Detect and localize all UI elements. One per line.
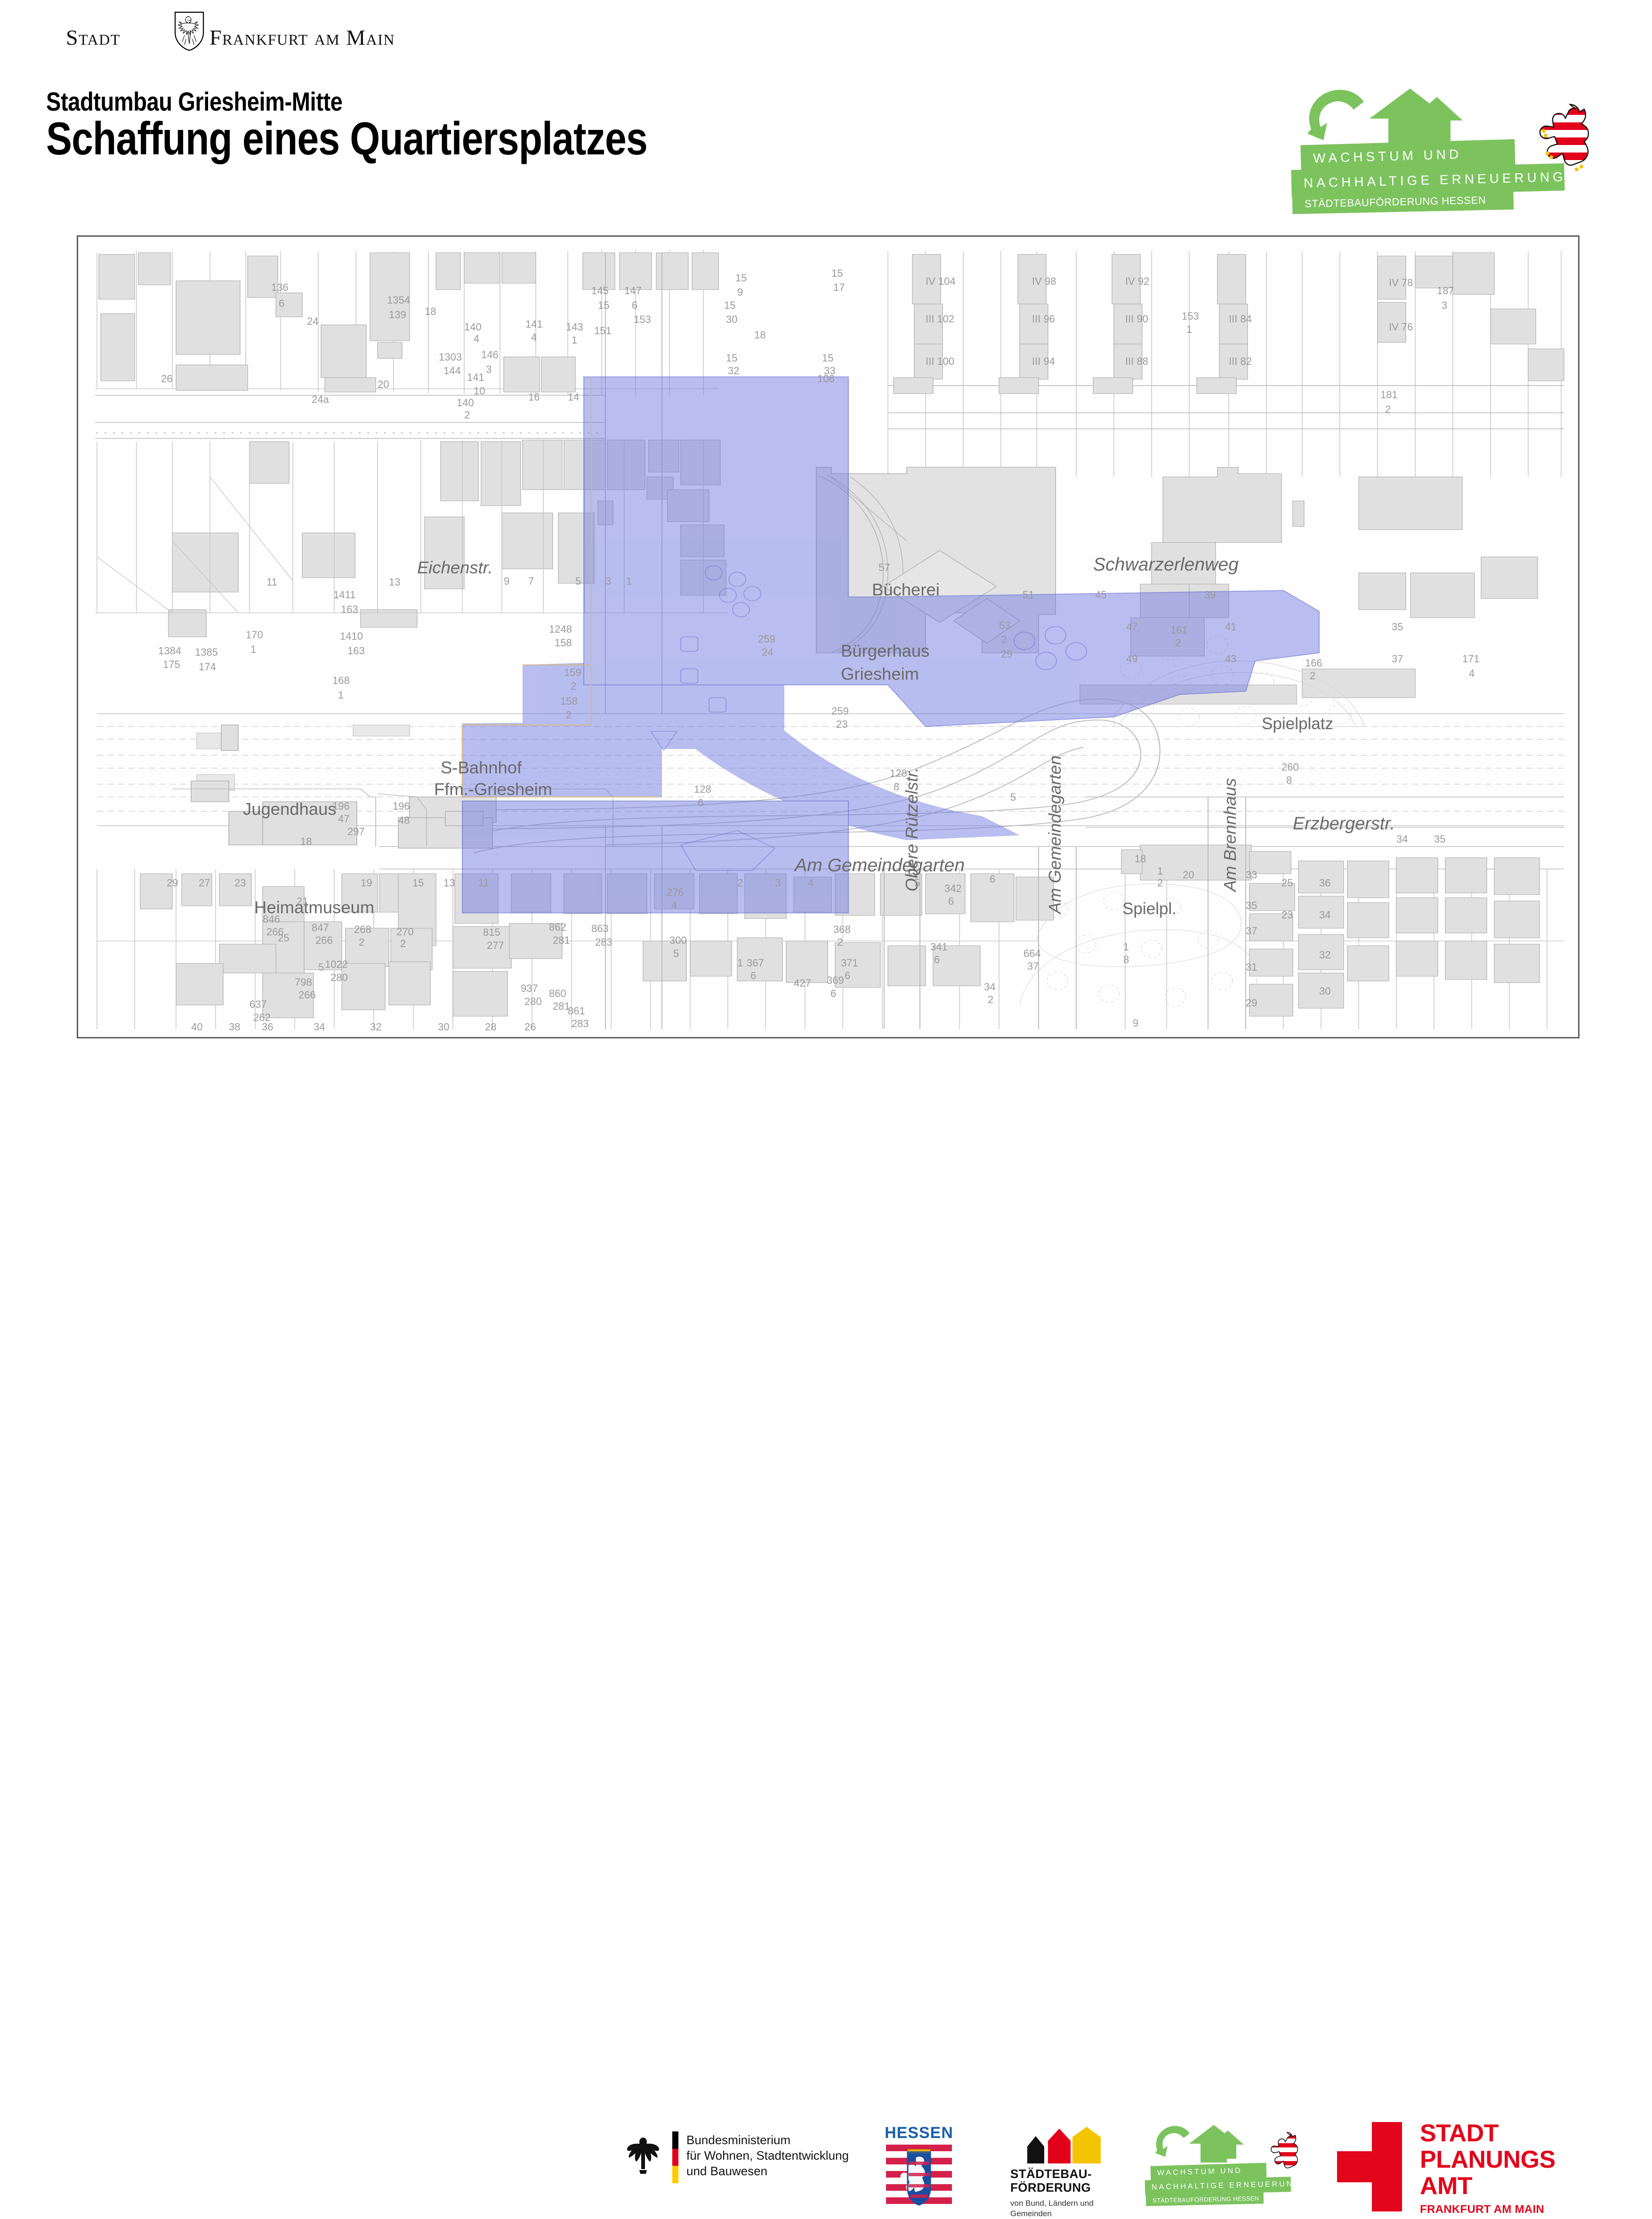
map-label: Bücherei — [872, 580, 940, 600]
parcel-number: 266 — [266, 926, 284, 938]
parcel-number: 5 — [1010, 791, 1016, 804]
parcel-number: 21 — [297, 895, 308, 908]
parcel-number: IV 92 — [1125, 275, 1149, 288]
parcel-number: 2 — [566, 709, 572, 721]
parcel-number: 153 — [634, 314, 651, 326]
parcel-number: 15 — [598, 299, 609, 312]
parcel-number: 6 — [698, 797, 703, 809]
parcel-number: 6 — [934, 954, 940, 966]
parcel-number: 6 — [845, 970, 850, 982]
parcel-number: 25 — [1281, 877, 1293, 889]
parcel-number: 2 — [1001, 634, 1007, 646]
parcel-number: 147 — [624, 285, 642, 297]
map-label: Am Gemeindegarten — [795, 855, 965, 876]
parcel-number: 18 — [754, 329, 766, 341]
parcel-number: 4 — [808, 877, 814, 889]
staedtebau-line2: FÖRDERUNG — [1010, 2180, 1091, 2195]
map-label: Griesheim — [841, 664, 919, 684]
staedtebau-subtitle: von Bund, Ländern und Gemeinden — [1010, 2198, 1094, 2219]
parcel-number: 168 — [332, 675, 350, 687]
parcel-number: 171 — [1462, 653, 1480, 665]
parcel-number: 371 — [841, 957, 858, 969]
parcel-number: 40 — [191, 1021, 202, 1033]
parcel-number: 2 — [571, 680, 576, 692]
parcel-number: 1 — [250, 643, 256, 656]
parcel-number: 15 — [726, 352, 737, 364]
parcel-number: 8 — [1286, 774, 1292, 787]
bmwsb-line3: und Bauwesen — [686, 2164, 767, 2178]
parcel-number: 1 — [572, 334, 577, 346]
parcel-number: 35 — [1246, 900, 1257, 912]
parcel-number: 33 — [1246, 869, 1257, 881]
cadastral-map[interactable]: Eichenstr.SchwarzerlenwegBüchereiBürgerh… — [77, 235, 1579, 1038]
parcel-number: 2 — [1175, 637, 1181, 649]
parcel-number: 1410 — [340, 630, 363, 643]
parcel-number: III 94 — [1032, 355, 1055, 368]
parcel-number: 861 — [568, 1005, 585, 1017]
parcel-number: 34 — [314, 1021, 325, 1033]
parcel-number: 277 — [487, 940, 504, 952]
parcel-number: 29 — [1001, 648, 1012, 660]
parcel-number: IV 98 — [1032, 275, 1056, 288]
parcel-number: 863 — [591, 923, 609, 935]
parcel-number: 847 — [312, 922, 329, 934]
parcel-number: 139 — [389, 309, 406, 321]
parcel-number: 2 — [359, 936, 364, 949]
hessen-lion-icon-small — [1268, 2131, 1302, 2176]
parcel-number: III 96 — [1032, 313, 1055, 325]
stadtplanungsamt-mark-icon — [1337, 2122, 1402, 2211]
parcel-number: 1 — [1157, 865, 1163, 877]
parcel-number: 141 — [467, 371, 484, 384]
parcel-number: 1 — [1186, 323, 1192, 336]
parcel-number: 37 — [1246, 925, 1257, 937]
parcel-number: 4 — [1469, 667, 1475, 680]
hessen-shield-icon — [881, 2145, 957, 2207]
parcel-number: 37 — [1027, 960, 1039, 973]
parcel-number: 158 — [555, 637, 572, 649]
stadtplanungsamt-wordmark: STADT PLANUNGS AMT — [1420, 2120, 1555, 2199]
parcel-number: 11 — [266, 576, 277, 588]
map-label-rotated: Am Gemeindegarten — [1045, 756, 1065, 914]
parcel-number: 6 — [948, 895, 954, 908]
parcel-number: IV 104 — [926, 275, 956, 288]
parcel-number: 6 — [830, 988, 836, 1000]
staedtebau-sub1: von Bund, Ländern und — [1010, 2199, 1094, 2208]
parcel-number: 38 — [229, 1021, 240, 1033]
parcel-number: 8 — [894, 781, 899, 793]
parcel-number: 41 — [1225, 621, 1236, 633]
parcel-number: 1 — [1123, 941, 1129, 953]
staedtebau-sub2: Gemeinden — [1010, 2209, 1052, 2218]
parcel-number: 1 — [338, 689, 344, 701]
staedtebau-line1: STÄDTEBAU- — [1010, 2167, 1092, 2181]
parcel-number: 128 — [890, 767, 907, 780]
parcel-number: 5 — [318, 961, 324, 973]
parcel-number: 15 — [724, 299, 735, 312]
parcel-number: 151 — [594, 325, 612, 337]
parcel-number: 26 — [524, 1021, 536, 1033]
parcel-number: 6 — [990, 873, 995, 885]
parcel-number: 141 — [525, 318, 543, 330]
parcel-number: 1022 — [325, 958, 348, 971]
parcel-number: 2 — [400, 938, 406, 950]
frankfurt-eagle-crest-icon — [173, 11, 205, 51]
map-label: Spielplatz — [1262, 715, 1333, 733]
map-label: Schwarzerlenweg — [1093, 555, 1239, 575]
parcel-number: 259 — [831, 705, 849, 717]
spa-line3: AMT — [1420, 2172, 1472, 2200]
parcel-number: 15 — [822, 352, 833, 364]
parcel-number: 26 — [161, 373, 172, 385]
parcel-number: III 88 — [1125, 355, 1148, 368]
parcel-number: 145 — [591, 285, 609, 297]
parcel-number: 2 — [1385, 403, 1391, 416]
parcel-number: 1 — [626, 575, 632, 587]
parcel-number: 4 — [474, 333, 479, 345]
map-label: Ffm.-Griesheim — [434, 780, 552, 799]
parcel-number: 266 — [315, 934, 333, 947]
parcel-number: 6 — [279, 297, 284, 310]
parcel-number: 51 — [1023, 589, 1034, 601]
parcel-number: 2 — [1157, 877, 1163, 889]
parcel-number: 47 — [338, 813, 349, 825]
parcel-number: 20 — [378, 378, 389, 391]
parcel-number: 24 — [307, 315, 318, 328]
page-title: Schaffung eines Quartiersplatzes — [46, 112, 647, 165]
parcel-number: 15 — [735, 272, 747, 284]
parcel-number: 280 — [524, 996, 542, 1008]
parcel-number: 23 — [836, 718, 847, 731]
parcel-number: 11 — [478, 877, 489, 889]
map-label: S-Bahnhof — [441, 758, 522, 778]
parcel-number: 2 — [737, 877, 743, 889]
parcel-number: 23 — [234, 877, 246, 889]
parcel-number: 7 — [528, 575, 534, 587]
parcel-number: 18 — [425, 306, 436, 318]
parcel-number: 15 — [831, 267, 843, 280]
parcel-number: 196 — [393, 800, 410, 812]
parcel-number: 140 — [464, 321, 482, 333]
bundesadler-icon — [626, 2134, 660, 2175]
parcel-number: IV 78 — [1389, 277, 1413, 289]
parcel-number: 163 — [347, 645, 365, 657]
parcel-number: 32 — [1319, 949, 1330, 961]
parcel-number: 815 — [483, 926, 500, 939]
map-label: Jugendhaus — [243, 799, 337, 819]
parcel-number: 19 — [361, 877, 372, 889]
parcel-number: 860 — [549, 988, 566, 1000]
parcel-number: 35 — [1434, 833, 1445, 845]
small-logo-line2: NACHHALTIGE ERNEUERUNG — [1145, 2177, 1291, 2195]
parcel-number: 5 — [673, 948, 679, 960]
parcel-number: 1354 — [387, 294, 410, 306]
parcel-number: 36 — [1319, 877, 1330, 889]
parcel-number: 146 — [481, 349, 499, 361]
parcel-number: 34 — [1396, 833, 1408, 845]
parcel-number: 158 — [560, 695, 578, 708]
parcel-number: 1248 — [549, 623, 572, 635]
hessen-wordmark: HESSEN — [881, 2124, 957, 2142]
parcel-number: 23 — [1281, 909, 1293, 921]
stadtplanungsamt-logo: STADT PLANUNGS AMT FRANKFURT AM MAIN — [1337, 2122, 1572, 2211]
parcel-number: 10 — [474, 385, 485, 397]
parcel-number: 1 — [737, 957, 743, 969]
logo-text-right: Frankfurt am Main — [210, 25, 395, 50]
parcel-number: 3 — [775, 877, 781, 889]
parcel-number: 106 — [817, 373, 835, 385]
parcel-number: 187 — [1437, 285, 1454, 297]
parcel-number: 24a — [312, 394, 329, 406]
parcel-number: 13 — [389, 576, 400, 588]
parcel-number: 15 — [412, 877, 424, 889]
parcel-number: 49 — [1126, 653, 1137, 665]
map-label-rotated: Am Brennhaus — [1220, 778, 1240, 892]
parcel-number: 367 — [747, 957, 764, 969]
parcel-number: 159 — [564, 667, 581, 679]
parcel-number: III 82 — [1229, 355, 1252, 368]
parcel-number: 39 — [1204, 589, 1216, 601]
parcel-number: 140 — [457, 397, 474, 409]
parcel-number: III 90 — [1125, 313, 1148, 325]
parcel-number: 798 — [295, 976, 312, 989]
parcel-number: 260 — [1281, 761, 1299, 773]
parcel-number: 3 — [1442, 299, 1447, 312]
parcel-number: 166 — [1305, 657, 1322, 669]
parcel-number: 31 — [1246, 961, 1257, 973]
parcel-number: 32 — [728, 365, 739, 377]
parcel-number: 5 — [575, 575, 581, 587]
parcel-number: 57 — [878, 562, 890, 574]
parcel-number: 9 — [737, 286, 743, 298]
logo-text-left: Stadt — [66, 25, 121, 50]
parcel-number: 4 — [531, 331, 537, 344]
hessen-logo: HESSEN — [881, 2124, 957, 2209]
parcel-number: 29 — [167, 877, 178, 889]
parcel-number: 24 — [762, 646, 773, 659]
parcel-number: 2 — [988, 994, 993, 1006]
parcel-number: 181 — [1380, 389, 1398, 401]
parcel-number: 846 — [263, 913, 280, 925]
spa-line2: PLANUNGS — [1420, 2146, 1555, 2173]
parcel-number: 266 — [298, 989, 316, 1001]
parcel-number: 161 — [1170, 624, 1188, 636]
parcel-number: 30 — [1319, 985, 1330, 997]
parcel-number: 35 — [1392, 621, 1403, 633]
parcel-number: 1303 — [439, 351, 462, 363]
parcel-number: 1411 — [333, 589, 355, 601]
parcel-number: 29 — [1246, 997, 1257, 1009]
parcel-number: 297 — [347, 826, 365, 838]
staedtebaufoerderung-logo: STÄDTEBAU- FÖRDERUNG von Bund, Ländern u… — [1010, 2127, 1119, 2211]
parcel-number: 283 — [595, 936, 612, 949]
parcel-number: 281 — [553, 934, 570, 947]
hessen-lion-icon — [1535, 101, 1596, 176]
parcel-number: 262 — [253, 1012, 271, 1024]
parcel-number: 163 — [341, 603, 358, 616]
parcel-number: 174 — [199, 661, 216, 673]
parcel-number: 47 — [1126, 621, 1137, 633]
parcel-number: 16 — [528, 391, 540, 403]
parcel-number: 8 — [1123, 954, 1129, 966]
parcel-number: 128 — [694, 783, 711, 796]
parcel-number: 34 — [1319, 909, 1330, 921]
page-footer: Bundesministerium für Wohnen, Stadtentwi… — [0, 1054, 1652, 1167]
parcel-number: 1385 — [195, 646, 218, 659]
parcel-number: 30 — [726, 314, 737, 326]
parcel-number: 342 — [944, 883, 962, 895]
spa-subtitle: FRANKFURT AM MAIN — [1420, 2203, 1544, 2216]
wachstum-logo-small: WACHSTUM UND NACHHALTIGE ERNEUERUNG STÄD… — [1144, 2124, 1299, 2209]
parcel-number: 196 — [332, 800, 350, 812]
parcel-number: 34 — [984, 981, 995, 993]
parcel-number: 170 — [246, 629, 263, 641]
parcel-number: 2 — [464, 409, 470, 421]
parcel-number: 341 — [930, 941, 948, 953]
parcel-number: III 102 — [926, 313, 954, 325]
parcel-number: 136 — [271, 281, 289, 294]
parcel-number: 9 — [504, 575, 509, 587]
parcel-number: 18 — [300, 836, 312, 848]
parcel-number: 300 — [669, 934, 687, 947]
small-logo-line3: STÄDTEBAUFÖRDERUNG HESSEN — [1146, 2192, 1264, 2206]
page-header: Stadt Frankfurt am Main Stadtumbau Gries… — [0, 0, 1652, 221]
map-label: Eichenstr. — [417, 558, 493, 578]
parcel-number: 427 — [794, 977, 811, 989]
parcel-number: 6 — [632, 299, 637, 312]
parcel-number: 270 — [396, 926, 414, 938]
bundesministerium-logo: Bundesministerium für Wohnen, Stadtentwi… — [626, 2128, 847, 2189]
parcel-number: 259 — [758, 633, 775, 645]
parcel-number: 37 — [1392, 653, 1403, 665]
parcel-number: III 100 — [926, 355, 954, 368]
parcel-number: 369 — [827, 974, 844, 987]
logo-band-line3: STÄDTEBAUFÖRDERUNG HESSEN — [1292, 190, 1514, 214]
parcel-number: 4 — [671, 900, 677, 912]
parcel-number: 48 — [398, 814, 410, 827]
parcel-number: 3 — [605, 575, 611, 587]
parcel-number: 2 — [1310, 670, 1315, 682]
parcel-number: 268 — [354, 924, 371, 936]
parcel-number: 664 — [1023, 948, 1041, 960]
parcel-number: 6 — [750, 970, 756, 982]
parcel-number: 20 — [1183, 869, 1194, 881]
parcel-number: 283 — [572, 1018, 589, 1030]
parcel-number: 13 — [443, 877, 455, 889]
parcel-number: 9 — [1133, 1017, 1138, 1029]
growth-arrows-icon-small — [1152, 2124, 1247, 2165]
parcel-number: 5 — [914, 877, 920, 889]
parcel-number: 30 — [438, 1021, 449, 1033]
parcel-number: 143 — [566, 321, 583, 333]
spa-line1: STADT — [1420, 2120, 1499, 2147]
parcel-number: 368 — [833, 924, 851, 936]
staedtebau-title: STÄDTEBAU- FÖRDERUNG — [1010, 2167, 1092, 2195]
parcel-number: 280 — [330, 972, 348, 984]
parcel-number: 27 — [199, 877, 210, 889]
parcel-number: 175 — [163, 659, 180, 671]
parcel-number: 637 — [250, 998, 267, 1011]
parcel-number: 3 — [486, 363, 492, 376]
map-label: Spielpl. — [1122, 900, 1177, 918]
german-flag-bar-icon — [672, 2131, 678, 2183]
stadt-frankfurt-logo: Stadt Frankfurt am Main — [66, 21, 367, 56]
parcel-number: 276 — [667, 886, 684, 899]
parcel-number: 43 — [1225, 653, 1236, 665]
parcel-number: 1384 — [158, 645, 181, 657]
map-label: Erzbergerstr. — [1293, 814, 1395, 834]
parcel-number: 32 — [370, 1021, 381, 1033]
map-label-rotated: Obere Rützelstr. — [902, 767, 922, 892]
parcel-number: 862 — [549, 921, 566, 933]
bmwsb-line2: für Wohnen, Stadtentwicklung — [686, 2148, 849, 2163]
wachstum-und-nachhaltige-erneuerung-logo: WACHSTUM UND NACHHALTIGE ERNEUERUNG STÄD… — [1290, 88, 1596, 182]
bmwsb-line1: Bundesministerium — [686, 2133, 790, 2147]
bmwsb-text: Bundesministerium für Wohnen, Stadtentwi… — [686, 2132, 849, 2179]
parcel-number: 45 — [1095, 589, 1106, 601]
three-houses-icon — [1019, 2127, 1108, 2163]
parcel-number: 17 — [833, 281, 845, 294]
parcel-number: 14 — [568, 391, 579, 403]
parcel-number: 53 — [999, 619, 1010, 632]
parcel-number: 144 — [443, 365, 461, 377]
parcel-number: 18 — [1135, 853, 1146, 865]
parcel-number: 937 — [521, 982, 538, 995]
parcel-number: IV 76 — [1389, 321, 1413, 333]
parcel-number: 28 — [485, 1021, 496, 1033]
parcel-number: 2 — [837, 936, 843, 949]
parcel-number: III 84 — [1229, 313, 1252, 325]
map-label: Bürgerhaus — [841, 641, 929, 661]
parcel-number: 153 — [1182, 310, 1199, 322]
